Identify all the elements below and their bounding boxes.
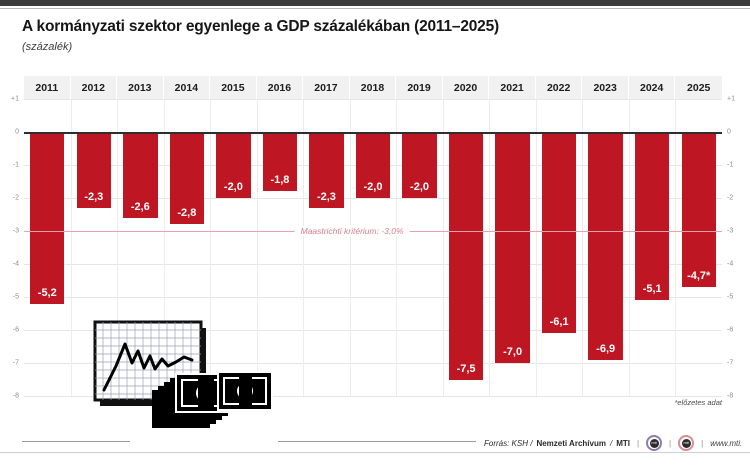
y-tick-left--7: -7 (13, 360, 19, 367)
column-separator (350, 99, 351, 396)
year-header-2013: 2013 (117, 76, 164, 99)
column-separator (675, 99, 676, 396)
y-tick-left-1: +1 (11, 96, 19, 103)
source-archive: Nemzeti Archívum (536, 439, 606, 448)
y-tick-right--5: -5 (727, 294, 733, 301)
page-title: A kormányzati szektor egyenlege a GDP sz… (22, 18, 499, 36)
year-header-2021: 2021 (489, 76, 536, 99)
y-tick-right--3: -3 (727, 228, 733, 235)
divider-pipe-1: | (637, 439, 639, 448)
bar-value-2013: -2,6 (131, 201, 150, 213)
y-tick-left--5: -5 (13, 294, 19, 301)
year-header-2017: 2017 (303, 76, 350, 99)
bar-value-2020: -7,5 (457, 363, 476, 375)
source-agency: MTI (616, 439, 630, 448)
page-subtitle: (százalék) (22, 41, 72, 53)
column-separator (536, 99, 537, 396)
bar-2023[interactable] (588, 132, 622, 360)
footer-mid-rule (278, 441, 476, 442)
bar-value-2017: -2,3 (317, 191, 336, 203)
y-tick-left-0: 0 (15, 129, 19, 136)
column-separator (489, 99, 490, 396)
source-prefix: Forrás: KSH / (484, 439, 532, 448)
column-separator (629, 99, 630, 396)
year-header-2019: 2019 (396, 76, 443, 99)
y-tick-right--2: -2 (727, 195, 733, 202)
y-tick-right-0: 0 (727, 129, 731, 136)
column-separator (582, 99, 583, 396)
footer-divider (0, 452, 750, 453)
year-header-2022: 2022 (536, 76, 583, 99)
bar-value-2021: -7,0 (503, 346, 522, 358)
bar-value-2018: -2,0 (364, 181, 383, 193)
bar-value-2025: -4,7* (687, 270, 710, 282)
y-tick-right--8: -8 (727, 393, 733, 400)
zero-axis-line (24, 132, 722, 134)
bar-value-2024: -5,1 (643, 283, 662, 295)
bar-value-2012: -2,3 (84, 191, 103, 203)
bar-2022[interactable] (542, 132, 576, 333)
bar-2011[interactable] (30, 132, 64, 304)
y-tick-right--4: -4 (727, 261, 733, 268)
top-divider (0, 8, 750, 9)
bar-2020[interactable] (449, 132, 483, 380)
y-tick-left--3: -3 (13, 228, 19, 235)
bar-value-2014: -2,8 (177, 207, 196, 219)
top-accent-bar (0, 0, 750, 6)
chart-and-money-illustration (92, 316, 282, 436)
year-header-2023: 2023 (582, 76, 629, 99)
bar-value-2016: -1,8 (270, 174, 289, 186)
chart-footnote: *előzetes adat (674, 398, 722, 407)
year-header-2016: 2016 (257, 76, 304, 99)
bar-2021[interactable] (495, 132, 529, 363)
year-header-2020: 2020 (443, 76, 490, 99)
divider-pipe-2: | (669, 439, 671, 448)
y-tick-right--6: -6 (727, 327, 733, 334)
year-header-2025: 2025 (675, 76, 722, 99)
footer-left-rule (22, 441, 130, 442)
year-header-2015: 2015 (210, 76, 257, 99)
year-header-2024: 2024 (629, 76, 676, 99)
y-tick-right--1: -1 (727, 162, 733, 169)
source-credit: Forrás: KSH / Nemzeti Archívum / MTI | m… (484, 435, 742, 451)
year-header-2014: 2014 (164, 76, 211, 99)
divider-pipe-3: | (701, 439, 703, 448)
source-separator: / (610, 439, 612, 448)
column-separator (303, 99, 304, 396)
mti-logo-purple-icon: mti (646, 435, 662, 451)
bar-value-2022: -6,1 (550, 316, 569, 328)
bar-2024[interactable] (635, 132, 669, 300)
gridline-1 (24, 99, 722, 100)
year-header-row: 2011201220132014201520162017201820192020… (24, 76, 722, 99)
y-tick-left--4: -4 (13, 261, 19, 268)
y-tick-left--8: -8 (13, 393, 19, 400)
mti-logo-red-icon: mti (678, 435, 694, 451)
year-header-2011: 2011 (24, 76, 71, 99)
bar-2025[interactable] (682, 132, 716, 287)
y-tick-right--7: -7 (727, 360, 733, 367)
column-separator (396, 99, 397, 396)
y-tick-left--2: -2 (13, 195, 19, 202)
bar-value-2011: -5,2 (38, 287, 57, 299)
maastricht-reference-label: Maastrichti kritérium: -3,0% (295, 226, 410, 236)
mti-url: www.mti. (710, 439, 742, 448)
y-tick-left--6: -6 (13, 327, 19, 334)
bar-value-2019: -2,0 (410, 181, 429, 193)
y-tick-right-1: +1 (727, 96, 735, 103)
bar-value-2023: -6,9 (596, 343, 615, 355)
year-header-2012: 2012 (71, 76, 118, 99)
bar-value-2015: -2,0 (224, 181, 243, 193)
column-separator (71, 99, 72, 396)
column-separator (443, 99, 444, 396)
year-header-2018: 2018 (350, 76, 397, 99)
y-tick-left--1: -1 (13, 162, 19, 169)
